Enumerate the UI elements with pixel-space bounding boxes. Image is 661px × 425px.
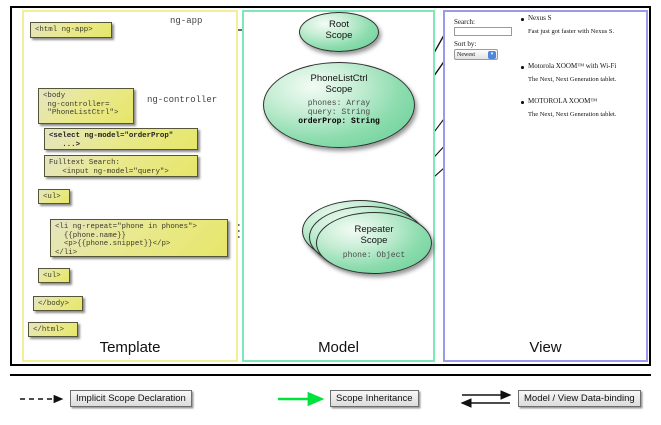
scope-root: Root Scope	[299, 12, 379, 52]
code-html-open: <html ng-app>	[30, 22, 112, 38]
code-ul-close: <ul>	[38, 268, 70, 283]
scope-repeater-title-2: Scope	[317, 235, 431, 246]
diagram-root: Template <html ng-app> <body ng-controll…	[0, 0, 661, 425]
legend-item-model-view-data-binding: Model / View Data-binding	[518, 390, 641, 407]
code-body-close: </body>	[33, 296, 83, 311]
scope-repeater-prop-0: phone: Object	[317, 251, 431, 260]
view-bullet-1	[521, 66, 524, 69]
view-bullet-0	[521, 18, 524, 21]
legend-item-scope-inheritance: Scope Inheritance	[330, 390, 419, 407]
view-sort-selected-value: Newest	[457, 52, 475, 58]
scope-ctrl-title-1: PhoneListCtrl	[264, 73, 414, 84]
scope-repeater-title-1: Repeater	[317, 224, 431, 235]
scope-root-title-2: Scope	[300, 30, 378, 41]
legend-item-implicit-scope-declaration: Implicit Scope Declaration	[70, 390, 192, 407]
scope-ctrl-prop-0: phones: Array	[264, 99, 414, 108]
code-search-input: Fulltext Search: <input ng-model="query"…	[44, 155, 198, 177]
scope-ctrl-prop-2: orderProp: String	[264, 117, 414, 126]
panel-template-label: Template	[24, 339, 236, 356]
view-phone-name-2: MOTOROLA XOOM™	[528, 97, 597, 105]
scope-phonelistctrl: PhoneListCtrl Scope phones: Array query:…	[263, 62, 415, 148]
label-ng-controller: ng-controller	[145, 95, 219, 105]
code-body-open: <body ng-controller= "PhoneListCtrl">	[38, 88, 134, 124]
panel-view-label: View	[445, 339, 646, 356]
code-html-close: </html>	[28, 322, 78, 337]
scope-root-title-1: Root	[300, 19, 378, 30]
label-ng-app: ng-app	[168, 16, 204, 26]
chevron-down-icon: ▾	[488, 51, 496, 59]
code-li-repeat: <li ng-repeat="phone in phones"> {{phone…	[50, 219, 228, 257]
code-select-tag: <select ng-model="orderProp" ...>	[44, 128, 198, 150]
scope-ctrl-title-2: Scope	[264, 84, 414, 95]
scope-ctrl-prop-1: query: String	[264, 108, 414, 117]
view-phone-snippet-1: The Next, Next Generation tablet.	[528, 76, 616, 83]
view-sort-select[interactable]: Newest ▾	[454, 49, 498, 60]
view-search-input[interactable]	[454, 27, 512, 36]
view-phone-name-1: Motorola XOOM™ with Wi-Fi	[528, 62, 616, 70]
legend: Implicit Scope Declaration Scope Inherit…	[10, 374, 651, 420]
panel-model-label: Model	[244, 339, 433, 356]
view-bullet-2	[521, 101, 524, 104]
view-phone-snippet-0: Fast just got faster with Nexus S.	[528, 28, 614, 35]
code-ul-open: <ul>	[38, 189, 70, 204]
scope-repeater: Repeater Scope phone: Object	[316, 212, 432, 274]
view-phone-snippet-2: The Next, Next Generation tablet.	[528, 111, 616, 118]
view-search-label: Search:	[454, 18, 475, 26]
view-sort-label: Sort by:	[454, 40, 476, 48]
view-phone-name-0: Nexus S	[528, 14, 552, 22]
